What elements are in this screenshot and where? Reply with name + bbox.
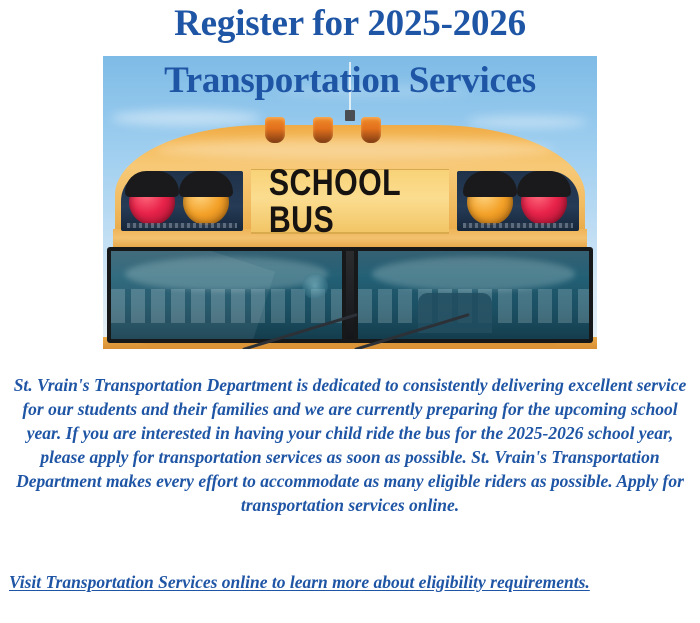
amber-warning-lamp-icon [183, 179, 229, 225]
eligibility-link-paragraph: Visit Transportation Services online to … [9, 570, 609, 595]
roof-marker-light-icon [361, 117, 381, 143]
interior-ceiling [125, 257, 328, 291]
bus-windshield [107, 247, 593, 343]
roof-marker-light-icon [265, 117, 285, 143]
panel-grille [127, 223, 237, 228]
windshield-center-post [346, 251, 354, 339]
roof-marker-light-icon [313, 117, 333, 143]
amber-warning-lamp-icon [467, 179, 513, 225]
red-stop-lamp-icon [521, 179, 567, 225]
panel-grille [463, 223, 573, 228]
page-title: Register for 2025-2026 [0, 2, 700, 46]
left-lamp-panel [121, 171, 243, 231]
red-stop-lamp-icon [129, 179, 175, 225]
roof-highlight [155, 139, 555, 159]
school-bus-sign-label: SCHOOL BUS [269, 164, 431, 238]
windshield-pane-left [111, 251, 342, 339]
hero-bus-image: Transportation Services SCHOOL BUS [103, 56, 597, 349]
right-lamp-panel [457, 171, 579, 231]
interior-fan-icon [302, 273, 328, 299]
hero-overlay-title: Transportation Services [103, 58, 597, 104]
newsletter-article: Register for 2025-2026 Transportation Se… [0, 0, 700, 623]
bus-graphic: SCHOOL BUS [103, 117, 597, 349]
school-bus-sign: SCHOOL BUS [251, 169, 449, 234]
article-body-text: St. Vrain's Transportation Department is… [8, 373, 692, 517]
transportation-services-link[interactable]: Visit Transportation Services online to … [9, 572, 590, 592]
interior-ceiling [372, 257, 575, 291]
windshield-pane-right [358, 251, 589, 339]
